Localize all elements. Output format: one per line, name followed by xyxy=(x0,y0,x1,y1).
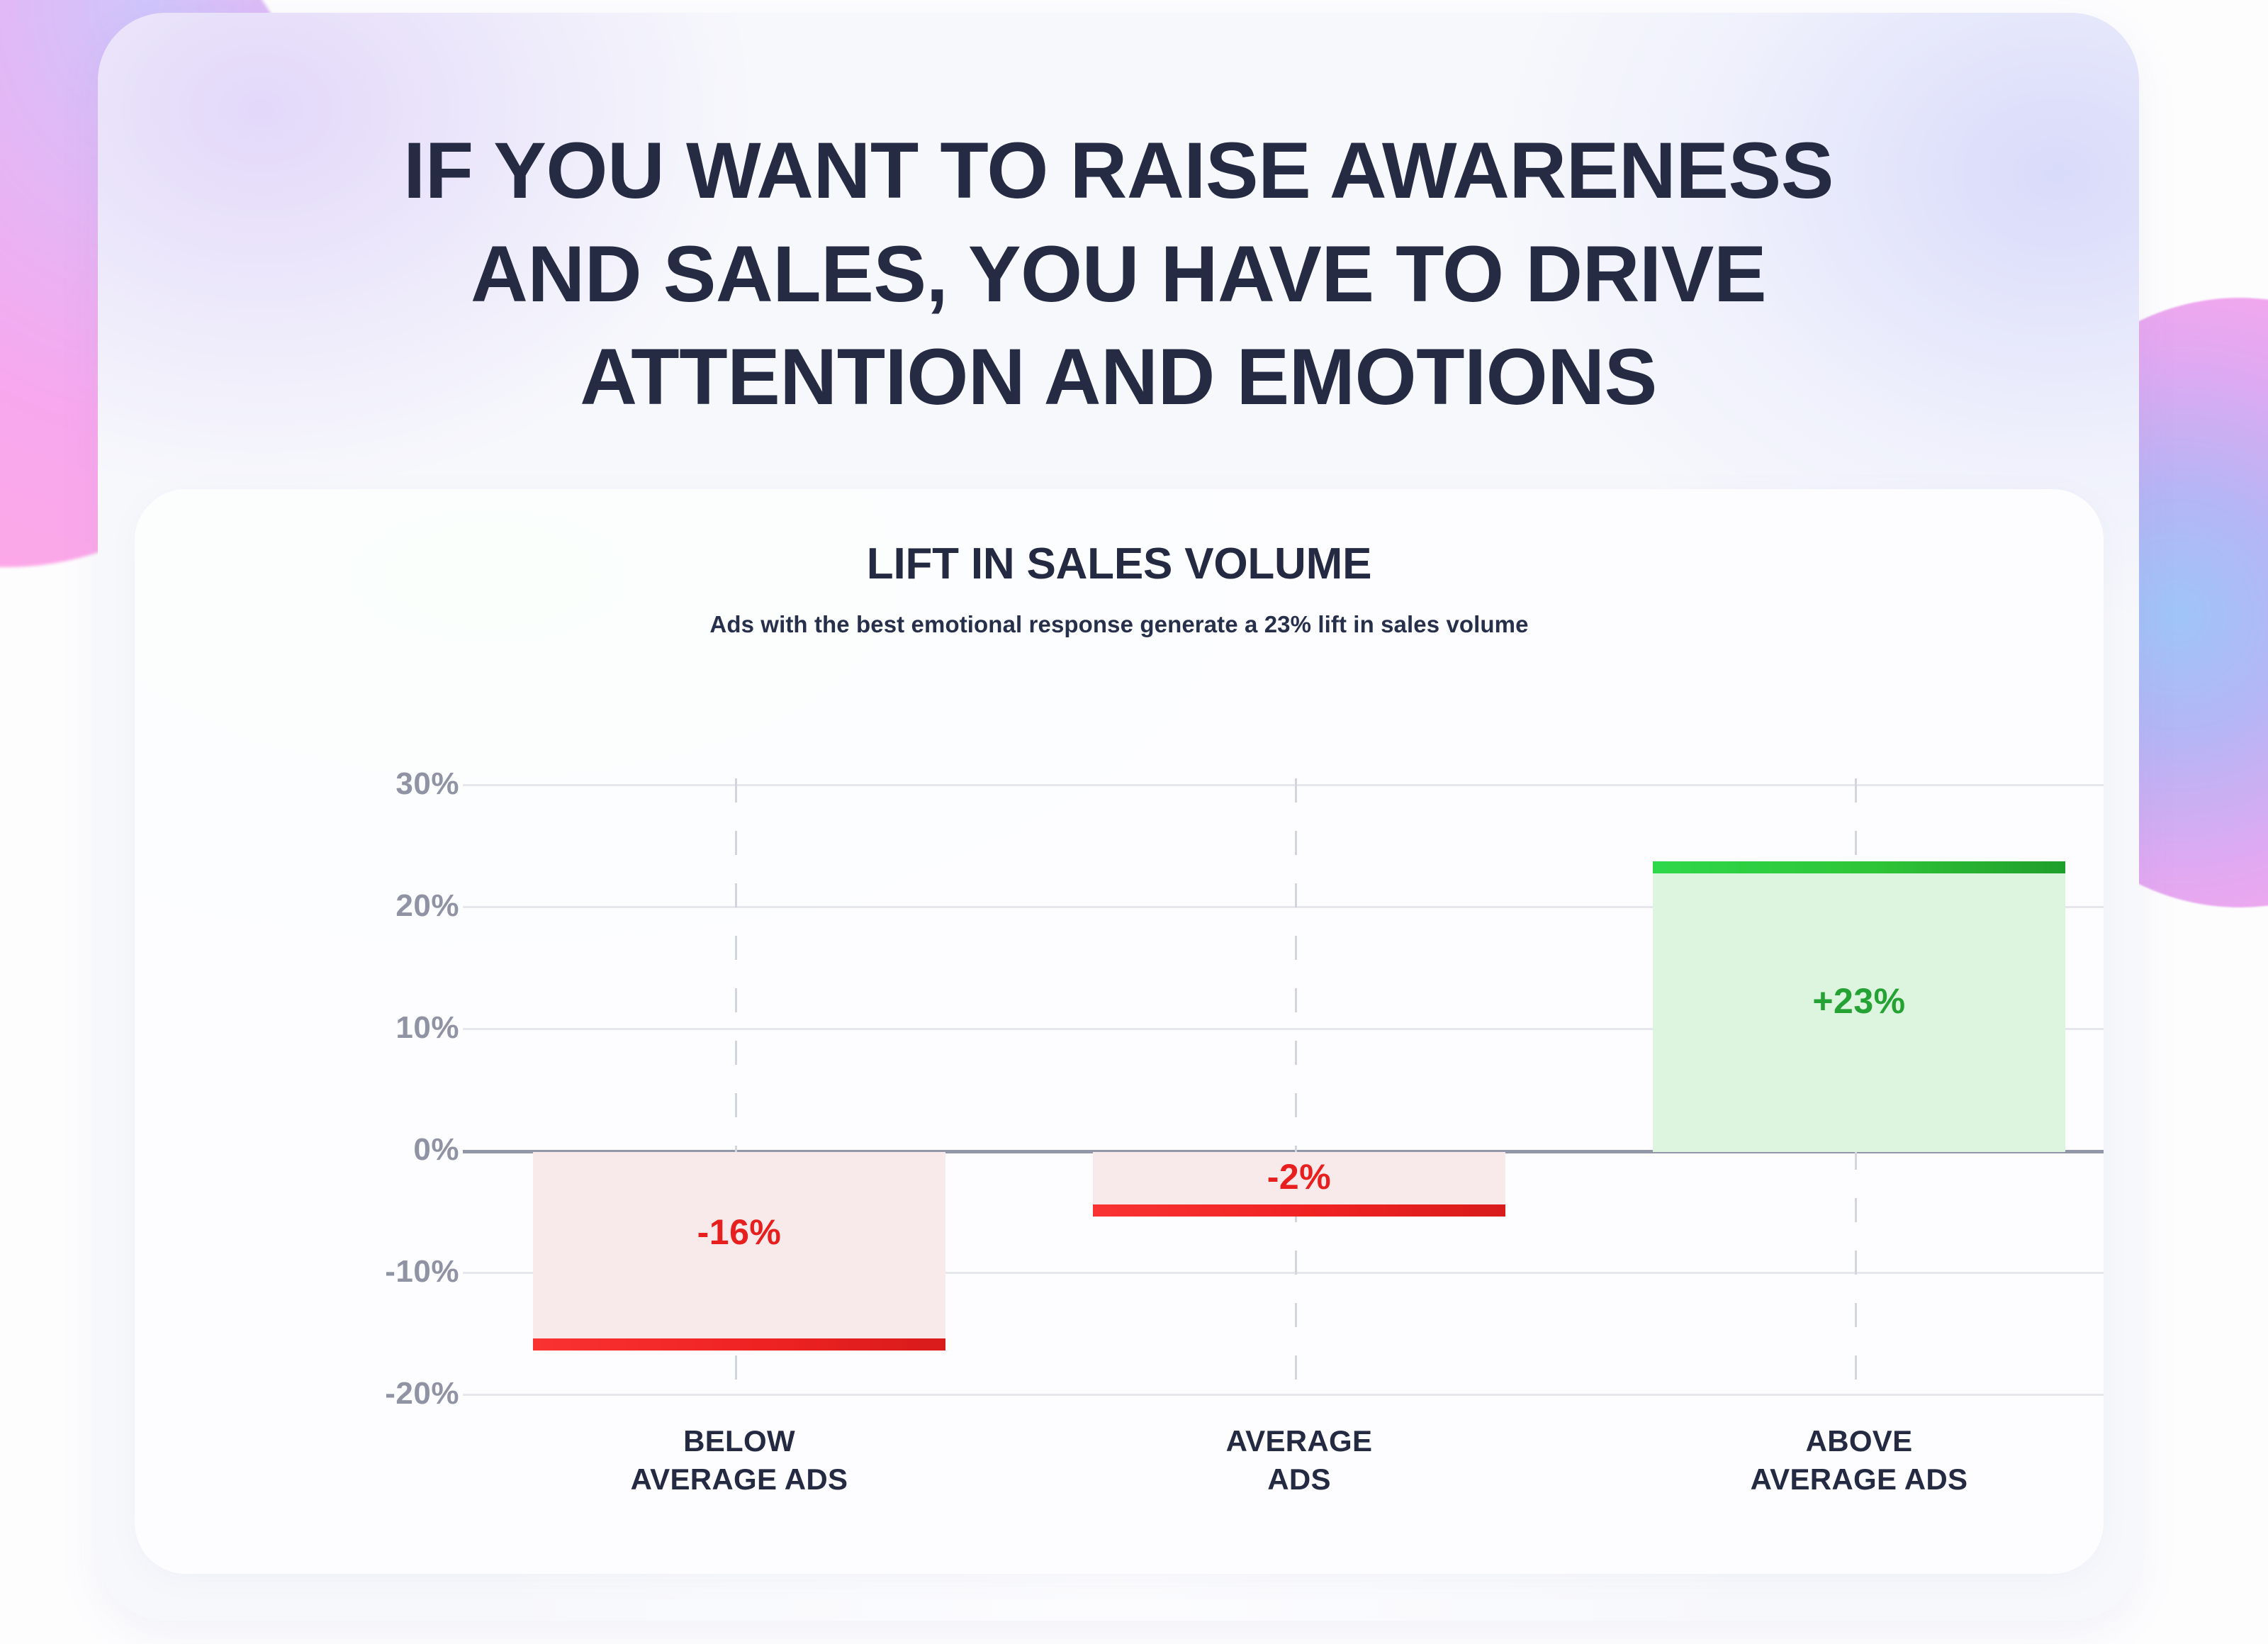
xtick-label-average-ads: AVERAGE ADS xyxy=(1051,1422,1547,1499)
xtick-label-average-ads-line-2: ADS xyxy=(1051,1460,1547,1499)
ytick-label-30: 30% xyxy=(247,766,459,802)
bar-cap-above-average-ads xyxy=(1653,861,2065,873)
headline-line-2: AND SALES, YOU HAVE TO DRIVE xyxy=(218,223,2019,326)
xtick-label-below-average-ads-line-1: BELOW xyxy=(491,1422,987,1460)
bar-above-average-ads[interactable]: +23% xyxy=(1653,871,2065,1152)
bar-chart-plot: 30% 20% 10% 0% -10% -20% -16% xyxy=(135,489,2104,1574)
headline-line-1: IF YOU WANT TO RAISE AWARENESS xyxy=(218,119,2019,223)
xtick-label-average-ads-line-1: AVERAGE xyxy=(1051,1422,1547,1460)
bar-below-average-ads[interactable]: -16% xyxy=(533,1152,945,1347)
page-title: IF YOU WANT TO RAISE AWARENESS AND SALES… xyxy=(98,119,2139,429)
xtick-label-below-average-ads: BELOW AVERAGE ADS xyxy=(491,1422,987,1499)
page-background: IF YOU WANT TO RAISE AWARENESS AND SALES… xyxy=(0,0,2268,1644)
bar-cap-average-ads xyxy=(1093,1204,1505,1217)
ytick-label-minus-10: -10% xyxy=(247,1254,459,1290)
xtick-label-below-average-ads-line-2: AVERAGE ADS xyxy=(491,1460,987,1499)
bar-value-average-ads: -2% xyxy=(1093,1156,1505,1197)
xtick-label-above-average-ads: ABOVE AVERAGE ADS xyxy=(1611,1422,2104,1499)
chart-panel: LIFT IN SALES VOLUME Ads with the best e… xyxy=(135,489,2104,1574)
bar-cap-below-average-ads xyxy=(533,1338,945,1351)
gridline-minus-20 xyxy=(463,1394,2104,1396)
bar-average-ads[interactable]: -2% xyxy=(1093,1152,1505,1213)
bar-value-below-average-ads: -16% xyxy=(533,1212,945,1253)
slide-card: IF YOU WANT TO RAISE AWARENESS AND SALES… xyxy=(98,13,2139,1621)
ytick-label-0: 0% xyxy=(247,1132,459,1168)
bar-value-above-average-ads: +23% xyxy=(1653,980,2065,1022)
ytick-label-minus-20: -20% xyxy=(247,1376,459,1411)
ytick-label-10: 10% xyxy=(247,1010,459,1046)
gridline-30 xyxy=(463,784,2104,786)
ytick-label-20: 20% xyxy=(247,888,459,924)
xtick-label-above-average-ads-line-1: ABOVE xyxy=(1611,1422,2104,1460)
category-guide-average xyxy=(1295,778,1297,1395)
headline-line-3: ATTENTION AND EMOTIONS xyxy=(218,325,2019,429)
xtick-label-above-average-ads-line-2: AVERAGE ADS xyxy=(1611,1460,2104,1499)
